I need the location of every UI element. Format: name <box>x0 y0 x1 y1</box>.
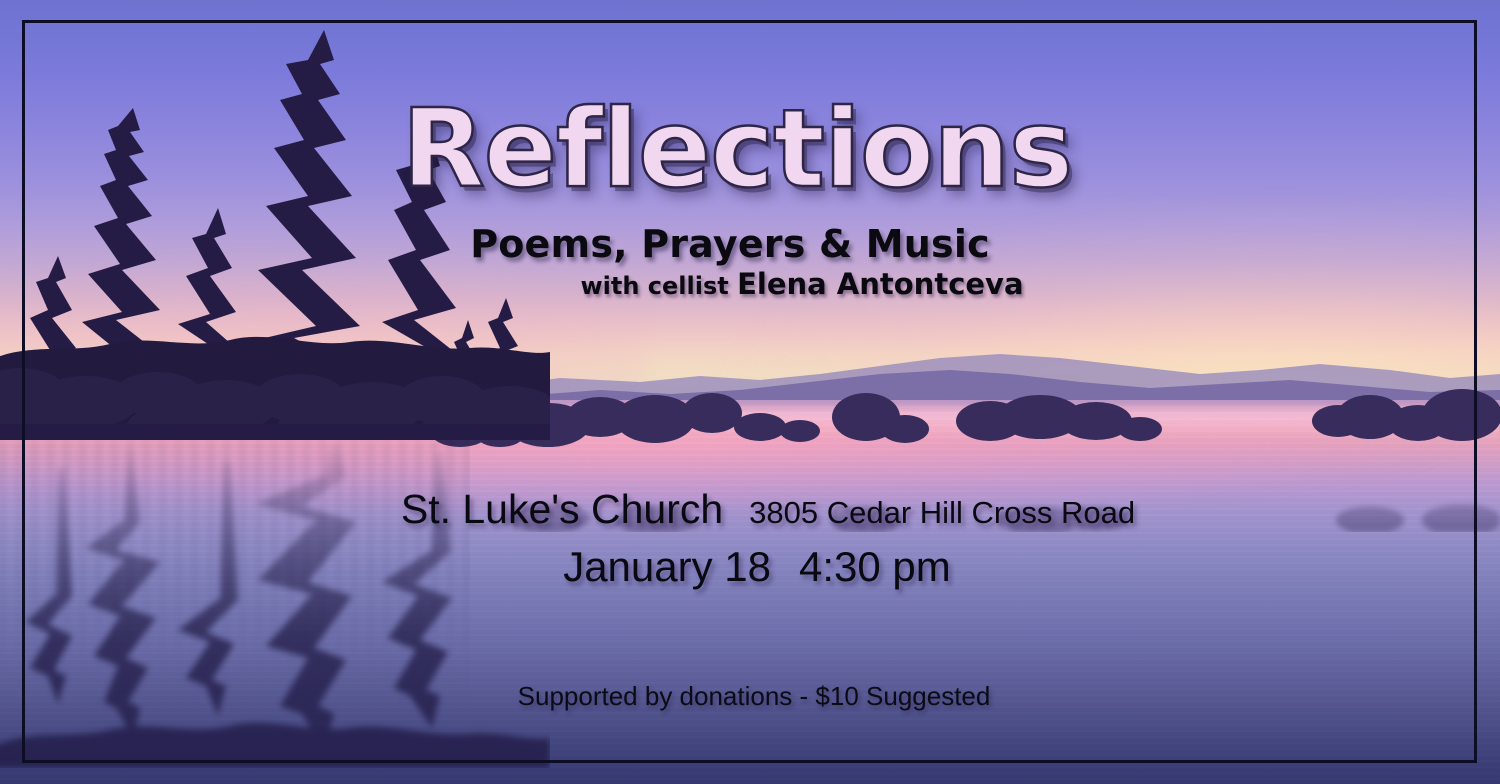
venue-address: 3805 Cedar Hill Cross Road <box>749 495 1135 530</box>
donation-note: Supported by donations - $10 Suggested <box>0 681 1500 712</box>
event-date: January 18 <box>563 543 771 590</box>
venue-name: St. Luke's Church <box>401 486 723 532</box>
page-title: Reflections <box>0 96 1500 204</box>
venue-line: St. Luke's Church3805 Cedar Hill Cross R… <box>0 486 1500 533</box>
performer-credit-lead: with cellist <box>580 272 737 300</box>
performer-credit: with cellist Elena Antontceva <box>0 267 1500 301</box>
event-datetime: January 184:30 pm <box>0 543 1500 591</box>
performer-name: Elena Antontceva <box>737 267 1023 301</box>
event-time: 4:30 pm <box>799 543 951 590</box>
poster-subtitle: Poems, Prayers & Music <box>0 222 1500 266</box>
poster-text-layer: Reflections Poems, Prayers & Music with … <box>0 0 1500 784</box>
event-poster: Reflections Poems, Prayers & Music with … <box>0 0 1500 784</box>
